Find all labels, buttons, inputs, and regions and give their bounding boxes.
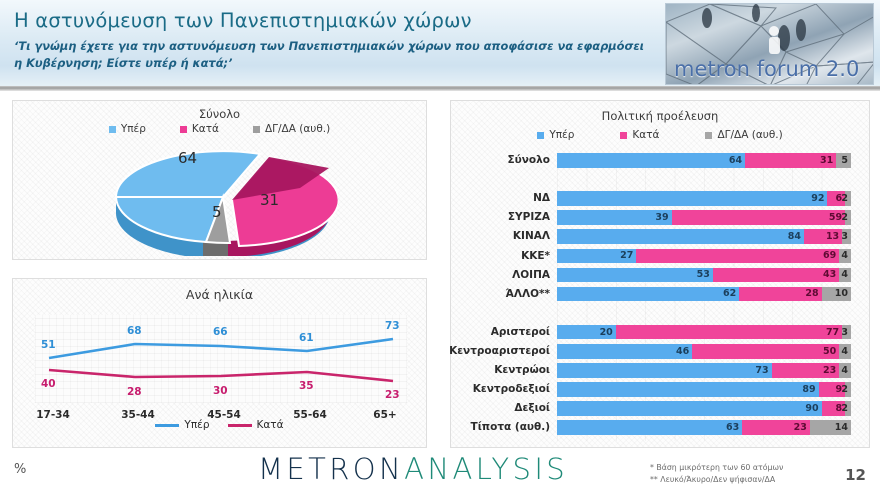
bar-value-label: 4 [841,250,848,261]
bar-segment-yper: 53 [557,268,713,283]
bar-value-label: 92 [811,193,824,204]
bar-segment-yper: 62 [557,287,739,302]
bar-value-label: 13 [826,231,839,242]
pie-legend-item-dgda: ΔΓ/ΔΑ (αυθ.) [253,123,330,135]
party-legend: Υπέρ Κατά ΔΓ/ΔΑ (αυθ.) [451,129,869,141]
metron-forum-logo: metron forum 2.0 [665,3,874,85]
footnote-2: ** Λευκό/Άκυρο/Δεν ψήφισαν/ΔΑ [650,474,783,486]
political-origin-panel: Πολιτική προέλευση Υπέρ Κατά ΔΓ/ΔΑ (αυθ.… [450,100,870,448]
legend-swatch-pink [620,132,627,139]
bar-value-label: 14 [835,422,848,433]
legend-line-blue [155,424,179,427]
age-label-kata-55-64: 35 [299,380,314,392]
bar-row: Σύνολο64315 [557,153,851,168]
bar-value-label: 39 [655,212,668,223]
bar-segment-dgda: 4 [839,344,851,359]
party-legend-item-yper: Υπέρ [537,129,574,141]
bar-row: Κεντροδεξιοί8992 [557,382,851,397]
age-label-yper-45-54: 66 [213,326,228,338]
age-legend-item-yper: Υπέρ [155,419,209,431]
bar-segment-yper: 20 [557,325,616,340]
pie-value-yper: 64 [178,149,197,167]
bar-row-label: Κεντροαριστεροί [377,344,557,359]
bar-row-label: ΚΙΝΑΛ [377,229,557,244]
bar-value-label: 64 [729,155,742,166]
page-number: 12 [845,466,866,484]
bar-segment-kata: 23 [742,420,810,435]
bar-segment-yper: 73 [557,363,772,378]
pie-chart-svg [108,141,338,256]
percent-symbol: % [14,462,26,477]
bar-segment-kata: 31 [745,153,836,168]
bar-row: Αριστεροί20773 [557,325,851,340]
bar-segment-dgda: 14 [810,420,851,435]
age-label-yper-35-44: 68 [127,325,142,337]
bar-value-label: 3 [841,231,848,242]
bar-segment-dgda: 4 [839,268,851,283]
bar-segment-yper: 84 [557,229,804,244]
bar-value-label: 10 [835,288,848,299]
pie-legend-item-kata: Κατά [180,123,219,135]
bar-value-label: 4 [841,365,848,376]
bar-value-label: 2 [841,212,848,223]
bar-value-label: 2 [841,403,848,414]
bar-row-label: Κεντρώοι [377,363,557,378]
bar-value-label: 69 [823,250,836,261]
slide-root: Η αστυνόμευση των Πανεπιστημιακών χώρων … [0,0,880,495]
bar-value-label: 4 [841,346,848,357]
legend-swatch-blue [109,126,116,133]
bar-segment-kata: 77 [616,325,842,340]
age-chart-title: Ανά ηλικία [13,287,426,302]
bar-segment-kata: 69 [636,249,839,264]
bar-segment-dgda: 2 [845,210,851,225]
party-legend-label-kata: Κατά [632,129,659,141]
bar-value-label: 53 [697,269,710,280]
bar-segment-kata: 43 [713,268,839,283]
bar-row-label: Σύνολο [377,153,557,168]
bar-segment-dgda: 10 [822,287,851,302]
bar-value-label: 20 [600,327,613,338]
party-legend-item-kata: Κατά [620,129,659,141]
party-legend-label-dgda: ΔΓ/ΔΑ (αυθ.) [717,129,782,141]
survey-question: ‘Τι γνώμη έχετε για την αστυνόμευση των … [14,38,654,73]
pie-chart-title: Σύνολο [13,107,426,121]
legend-swatch-grey [705,132,712,139]
bar-value-label: 2 [841,193,848,204]
header-divider [0,86,880,91]
bar-segment-dgda: 2 [845,191,851,206]
bar-value-label: 5 [841,155,848,166]
bar-value-label: 27 [620,250,633,261]
age-label-yper-17-34: 51 [41,339,56,351]
age-line-panel: Ανά ηλικία 51 68 66 61 73 40 28 30 35 23… [12,278,427,448]
bar-value-label: 46 [676,346,689,357]
bar-row: Τίποτα (αυθ.)632314 [557,420,851,435]
bar-value-label: 62 [723,288,736,299]
brand-analysis: ANALYSIS [404,452,568,486]
age-legend: Υπέρ Κατά [13,419,426,431]
bar-row-label: Κεντροδεξιοί [377,382,557,397]
pie-legend-label-yper: Υπέρ [121,123,146,135]
legend-line-pink [228,424,252,427]
bar-segment-yper: 27 [557,249,636,264]
legend-swatch-blue [537,132,544,139]
bar-segment-yper: 46 [557,344,692,359]
pie-legend-item-yper: Υπέρ [109,123,146,135]
age-label-kata-17-34: 40 [41,378,56,390]
total-pie-panel: Σύνολο Υπέρ Κατά ΔΓ/ΔΑ (αυθ.) [12,100,427,260]
bar-segment-yper: 90 [557,401,822,416]
bar-segment-dgda: 4 [839,249,851,264]
footnote-1: * Βάση μικρότερη των 60 ατόμων [650,462,783,474]
bar-segment-dgda: 4 [839,363,851,378]
bar-row: Κεντρώοι73234 [557,363,851,378]
bar-row-label: Αριστεροί [377,325,557,340]
bar-value-label: 63 [726,422,739,433]
bar-value-label: 4 [841,269,848,280]
bar-segment-dgda: 5 [836,153,851,168]
bar-segment-dgda: 3 [842,229,851,244]
age-legend-item-kata: Κατά [228,419,284,431]
age-legend-label-kata: Κατά [257,419,284,431]
party-chart-title: Πολιτική προέλευση [451,109,869,123]
party-bar-plot: Σύνολο64315ΝΔ9262ΣΥΡΙΖΑ39592ΚΙΝΑΛ84133ΚΚ… [557,153,851,441]
bar-segment-yper: 92 [557,191,827,206]
bar-value-label: 90 [805,403,818,414]
bar-segment-kata: 23 [772,363,840,378]
bar-row: ΚΚΕ*27694 [557,249,851,264]
bar-value-label: 3 [841,327,848,338]
age-legend-label-yper: Υπέρ [184,419,209,431]
bar-row: ΛΟΙΠΑ53434 [557,268,851,283]
party-legend-item-dgda: ΔΓ/ΔΑ (αυθ.) [705,129,782,141]
bar-segment-yper: 39 [557,210,672,225]
bar-value-label: 23 [794,422,807,433]
page-title: Η αστυνόμευση των Πανεπιστημιακών χώρων [14,9,472,32]
pie-chart: 64 31 5 [108,141,338,256]
age-line-plot: 51 68 66 61 73 40 28 30 35 23 [35,315,407,403]
bar-row: ΣΥΡΙΖΑ39592 [557,210,851,225]
bar-row-label: ΚΚΕ* [377,249,557,264]
bar-segment-dgda: 2 [845,401,851,416]
age-label-kata-35-44: 28 [127,386,142,398]
bar-value-label: 89 [802,384,815,395]
bar-value-label: 50 [823,346,836,357]
bar-row: ΚΙΝΑΛ84133 [557,229,851,244]
pie-value-dgda: 5 [212,203,222,221]
bar-row-label: ΝΔ [377,191,557,206]
footnotes: * Βάση μικρότερη των 60 ατόμων ** Λευκό/… [650,462,783,485]
bar-segment-yper: 64 [557,153,745,168]
bar-row: Κεντροαριστεροί46504 [557,344,851,359]
bar-row-label: ΣΥΡΙΖΑ [377,210,557,225]
age-label-kata-45-54: 30 [213,385,228,397]
legend-swatch-pink [180,126,187,133]
pie-legend-label-kata: Κατά [192,123,219,135]
bar-row: ΆΛΛΟ**622810 [557,287,851,302]
bar-row-label: ΛΟΙΠΑ [377,268,557,283]
bar-segment-dgda: 2 [845,382,851,397]
bar-segment-kata: 28 [739,287,821,302]
bar-value-label: 28 [805,288,818,299]
bar-segment-yper: 89 [557,382,819,397]
legend-swatch-grey [253,126,260,133]
bar-value-label: 77 [826,327,839,338]
bar-value-label: 59 [829,212,842,223]
bar-value-label: 23 [823,365,836,376]
bar-segment-kata: 59 [672,210,845,225]
pie-legend: Υπέρ Κατά ΔΓ/ΔΑ (αυθ.) [13,123,426,135]
bar-segment-yper: 63 [557,420,742,435]
bar-segment-dgda: 3 [842,325,851,340]
bar-row: ΝΔ9262 [557,191,851,206]
bar-segment-kata: 13 [804,229,842,244]
bar-value-label: 43 [823,269,836,280]
age-label-yper-55-64: 61 [299,332,314,344]
bar-segment-kata: 50 [692,344,839,359]
bar-value-label: 84 [788,231,801,242]
pie-legend-label-dgda: ΔΓ/ΔΑ (αυθ.) [265,123,330,135]
bar-value-label: 73 [755,365,768,376]
bar-row: Δεξιοί9082 [557,401,851,416]
metron-analysis-logo: METRONANALYSIS [258,452,568,486]
bar-value-label: 31 [820,155,833,166]
party-legend-label-yper: Υπέρ [549,129,574,141]
brand-metron: METRON [258,452,404,486]
pie-value-kata: 31 [260,191,279,209]
bar-value-label: 2 [841,384,848,395]
forum-logo-text: metron forum 2.0 [674,57,859,81]
